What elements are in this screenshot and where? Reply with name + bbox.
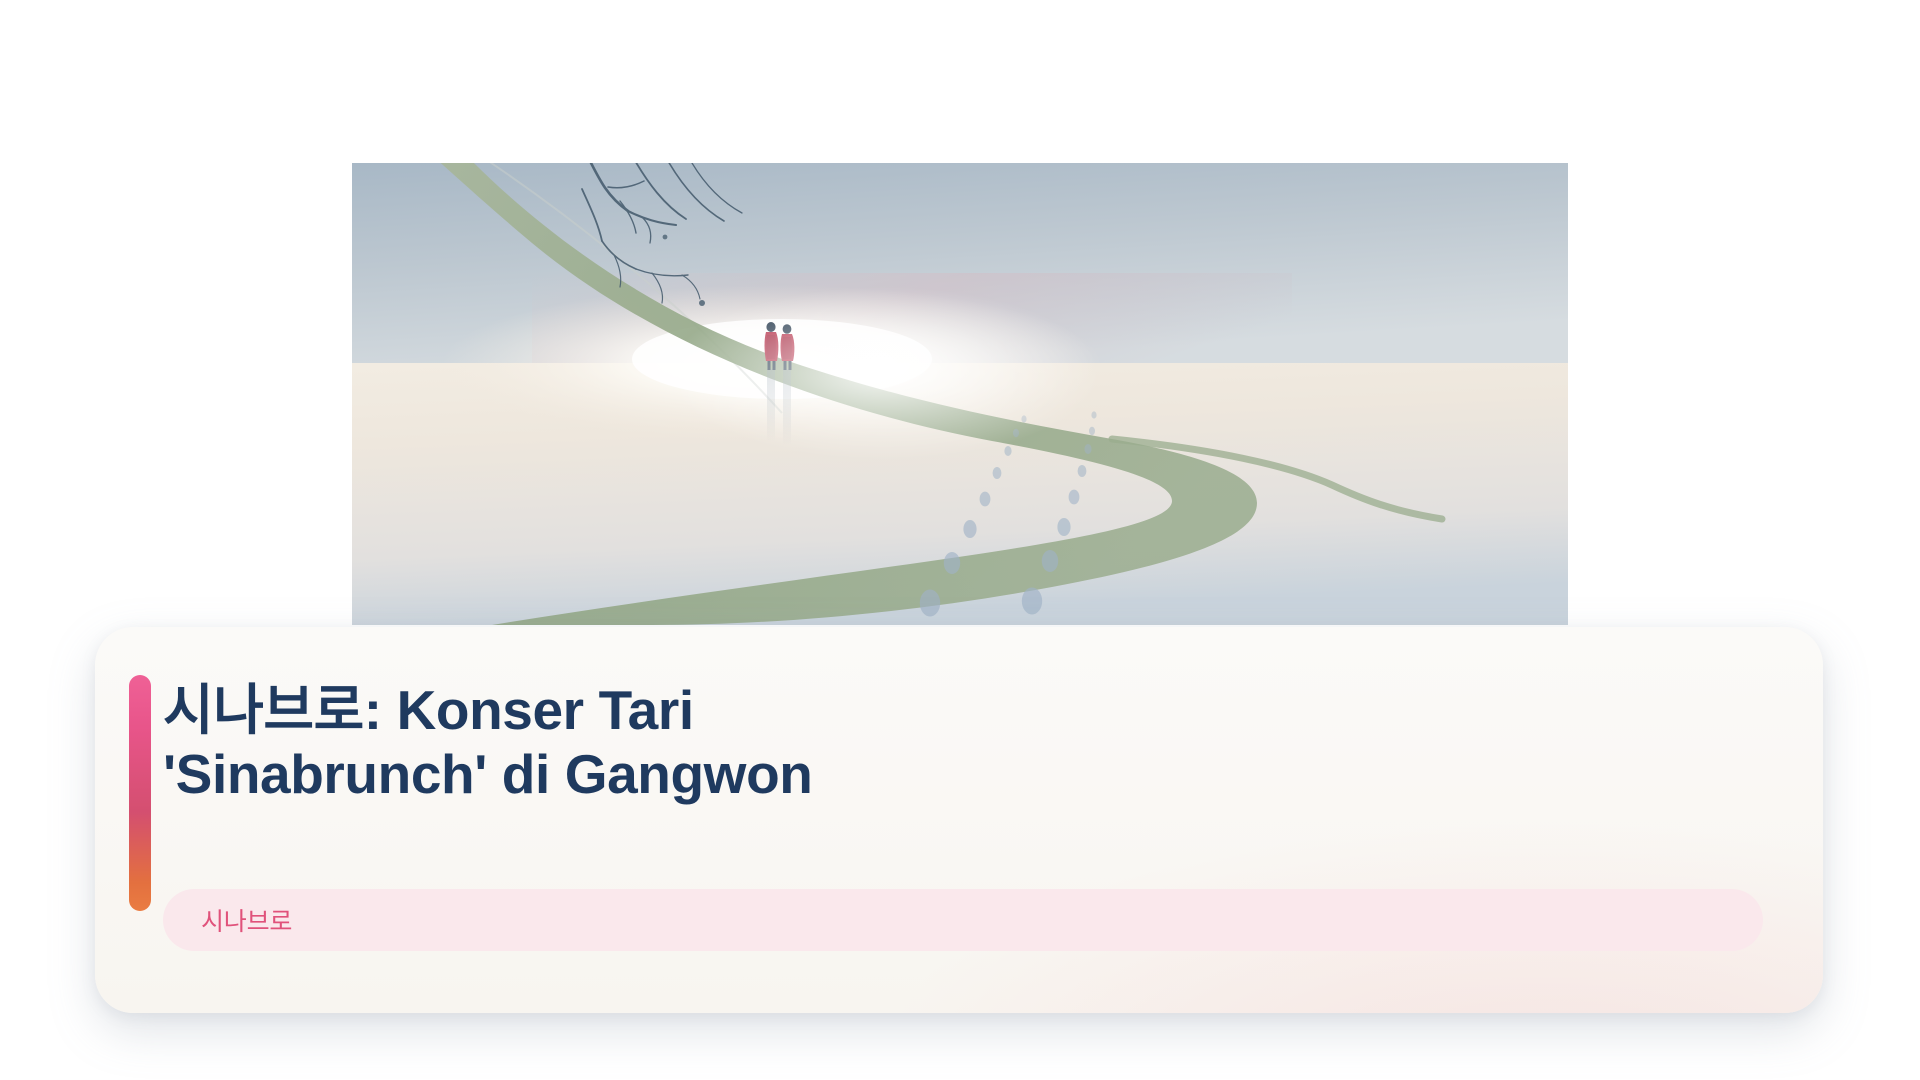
card-content: 시나브로: Konser Tari 'Sinabrunch' di Gangwo… — [95, 627, 1823, 1013]
branch-bud-2 — [663, 235, 668, 240]
page-title-line-2: 'Sinabrunch' di Gangwon — [163, 743, 1343, 807]
tag-pill[interactable]: 시나브로 — [163, 889, 1763, 951]
hero-image — [352, 163, 1568, 625]
hero-illustration — [352, 163, 1568, 625]
page-title-line-1: 시나브로: Konser Tari — [163, 679, 1343, 743]
content-card: 시나브로: Konser Tari 'Sinabrunch' di Gangwo… — [95, 627, 1823, 1013]
tag-label: 시나브로 — [201, 902, 292, 938]
page-title: 시나브로: Konser Tari 'Sinabrunch' di Gangwo… — [163, 679, 1343, 807]
accent-bar — [129, 675, 151, 911]
page-root: 시나브로: Konser Tari 'Sinabrunch' di Gangwo… — [0, 0, 1920, 1080]
center-haze — [572, 263, 1172, 503]
